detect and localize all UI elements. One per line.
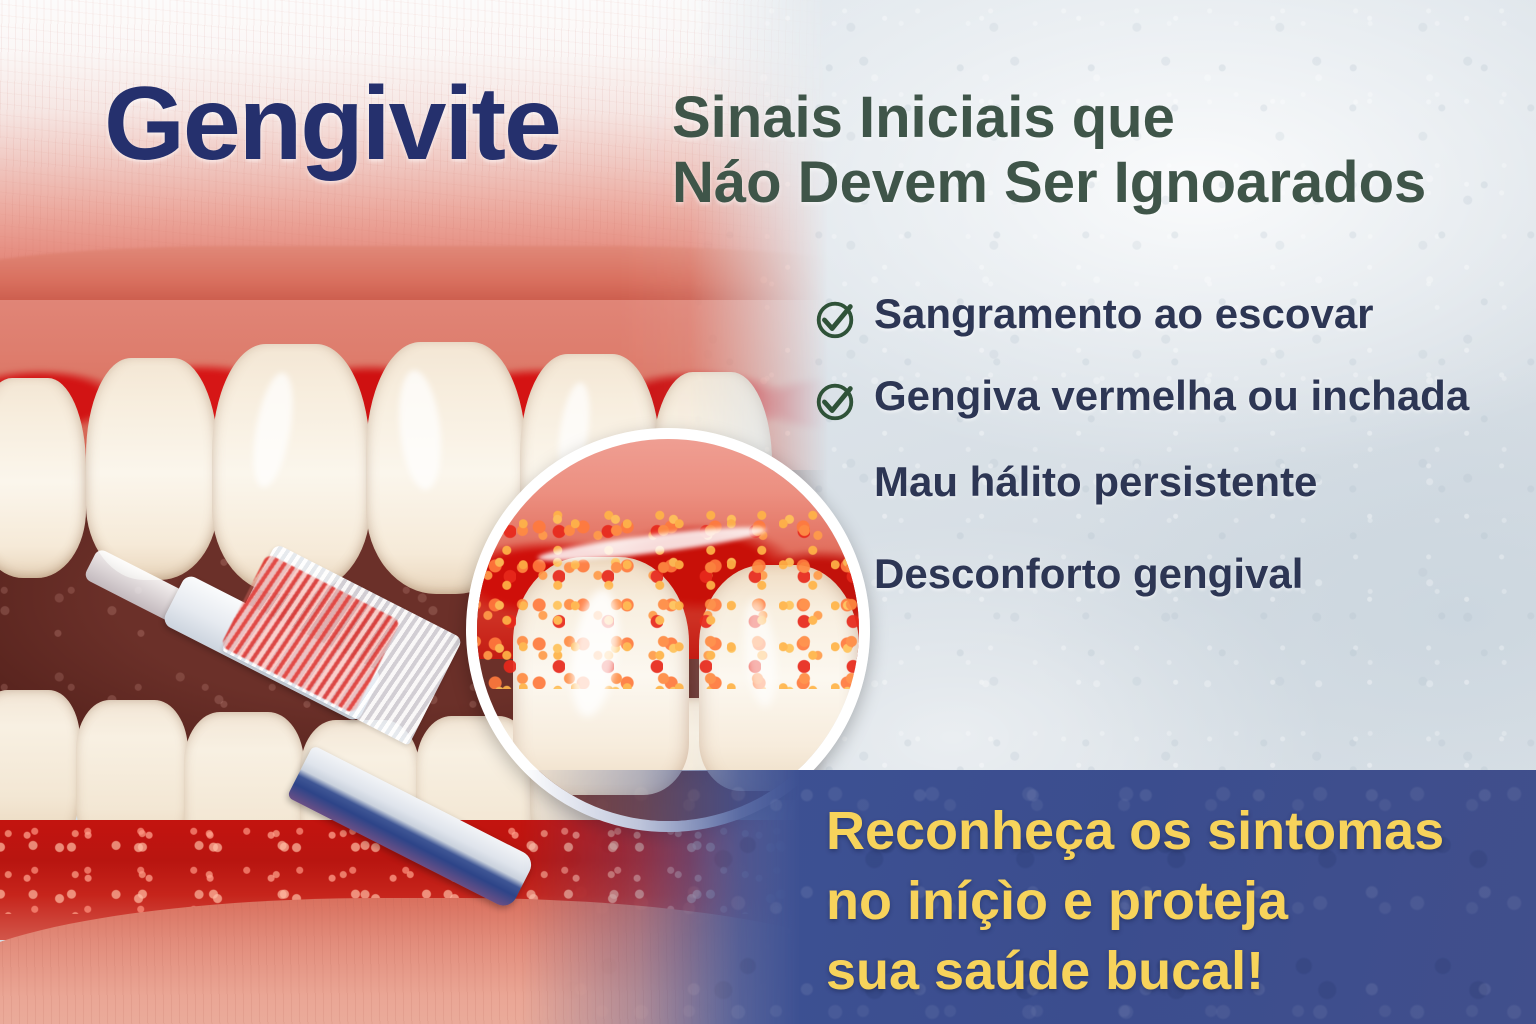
circle-check-icon bbox=[812, 296, 858, 342]
symptom-item-4: Desconforto gengival bbox=[812, 550, 1512, 602]
symptom-list: Sangramento ao escovar Gengiva vermelha … bbox=[812, 290, 1512, 602]
subtitle: Sinais Iniciais que Náo Devem Ser Ignoar… bbox=[672, 86, 1522, 216]
symptom-label: Desconforto gengival bbox=[874, 550, 1303, 598]
symptom-item-1: Sangramento ao escovar bbox=[812, 290, 1512, 342]
gingivitis-infographic-poster: Gengivite Sinais Iniciais que Náo Devem … bbox=[0, 0, 1536, 1024]
subtitle-line-1: Sinais Iniciais que bbox=[672, 85, 1175, 150]
symptom-label: Mau hálito persistente bbox=[874, 458, 1317, 506]
symptom-label: Sangramento ao escovar bbox=[874, 290, 1374, 338]
subtitle-line-2: Náo Devem Ser Ignoarados bbox=[672, 151, 1522, 216]
footer-line-1: Reconheça os sintomas bbox=[826, 796, 1526, 866]
page-title: Gengivite bbox=[104, 72, 560, 176]
footer-line-3: sua saúde bucal! bbox=[826, 936, 1526, 1006]
circle-check-icon bbox=[812, 378, 858, 424]
symptom-label: Gengiva vermelha ou inchada bbox=[874, 372, 1469, 420]
footer-banner-text: Reconheça os sintomas no iníçìo e protej… bbox=[826, 796, 1526, 1007]
symptom-item-3: Mau hálito persistente bbox=[812, 458, 1512, 510]
symptom-item-2: Gengiva vermelha ou inchada bbox=[812, 372, 1512, 424]
footer-line-2: no iníçìo e proteja bbox=[826, 866, 1526, 936]
